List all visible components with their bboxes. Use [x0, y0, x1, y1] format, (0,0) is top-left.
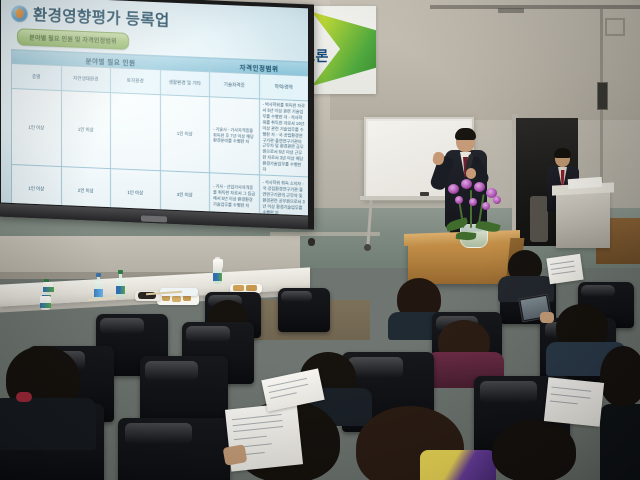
light-switch-panel[interactable] — [597, 82, 608, 110]
handout-text-line — [232, 420, 282, 426]
paper-cup[interactable] — [43, 282, 53, 294]
snack-item — [233, 285, 244, 291]
presenter-hair — [455, 128, 476, 140]
orchid-bloom — [482, 202, 490, 210]
handout-text-line — [232, 414, 282, 420]
seat[interactable] — [118, 418, 230, 480]
side-podium — [556, 190, 610, 248]
orchid-bloom — [461, 179, 472, 189]
screen-pull-handle[interactable] — [141, 215, 167, 222]
audience-member — [600, 346, 640, 406]
orchid-bloom — [448, 184, 459, 194]
col-toji: 토지환경 — [111, 68, 161, 95]
whiteboard-caster-wheel — [364, 244, 371, 251]
handout-text-line — [551, 271, 575, 275]
paper-cup[interactable] — [213, 259, 223, 270]
seat-highlight — [145, 361, 198, 381]
handout-text-line — [550, 401, 578, 405]
col-saenghwal: 생활환경 및 기타 — [160, 70, 210, 97]
handout-text-line — [550, 261, 574, 265]
cell-career: - 석사학위 취득 소지자 - 국·공립환경연구기관·출연연구기관의 근무자 및… — [259, 175, 308, 215]
paper-cup[interactable] — [40, 296, 51, 310]
ceiling-vent — [498, 8, 524, 13]
handout-text-line — [233, 426, 283, 432]
col-jongbyeol: 종별 — [12, 63, 62, 90]
audience-hand — [540, 312, 554, 323]
snack-item — [172, 296, 181, 302]
cell-jongbyeol: 1인 이상 — [12, 88, 62, 166]
audience-scarf — [420, 450, 496, 480]
hair-tie-accessory — [16, 392, 32, 402]
seat[interactable] — [278, 288, 330, 332]
rail-clip-icon — [308, 238, 315, 246]
bottle-label — [213, 273, 222, 281]
cup-band — [40, 303, 51, 308]
audience-shoulders — [0, 398, 96, 450]
presentation-slide: 환경영향평가 등록업 분야별 필요 인원 및 자격인정범위 분야별 필요 인원 … — [1, 0, 308, 215]
orchid-plant — [436, 176, 510, 248]
officer-hair — [554, 148, 571, 158]
marker-pen-icon[interactable] — [420, 192, 429, 196]
bottle-label — [94, 289, 103, 297]
wall-bracket — [605, 18, 625, 36]
cell-qualification: - 기사 - 산업기사자격증을 취득한 자로서 그 등급에서 5년 이상 환경환… — [210, 173, 260, 216]
snack-item — [246, 285, 257, 291]
handout-text-line — [551, 394, 590, 399]
screen-surface: 환경영향평가 등록업 분야별 필요 인원 및 자격인정범위 분야별 필요 인원 … — [1, 0, 308, 215]
bottle-cap — [118, 270, 123, 274]
organization-logo-icon — [11, 4, 28, 22]
slide-section-pill: 분야별 필요 인원 및 자격인정범위 — [17, 28, 129, 50]
seat-highlight — [186, 326, 229, 342]
audience-hand — [223, 444, 248, 466]
col-technical-cert: 기술자격증 — [210, 72, 260, 99]
col-education-career: 학력/경력 — [259, 74, 308, 101]
handout-text-line — [551, 266, 575, 270]
audience-hair — [492, 420, 576, 480]
cell-qualification: - 기술사 - 기사자격증을 취득한 후 7년 이상 해당 환경분야를 수행한 … — [210, 97, 260, 175]
water-bottle[interactable] — [116, 272, 125, 297]
col-jayeon: 자연생태환경 — [61, 66, 111, 93]
seat-highlight — [480, 381, 538, 403]
cell-saenghwal: 1인 이상 — [160, 95, 210, 173]
orchid-bloom — [455, 196, 463, 204]
seat-highlight — [281, 291, 312, 302]
bottle-label — [116, 286, 125, 294]
ceiling-edge — [430, 5, 640, 9]
audience-member — [492, 420, 576, 480]
lecture-hall-photo: 수회 구전략토론 급 환경공학과 환경영향평가 등록업 분야별 필요 인원 및 … — [0, 0, 640, 480]
orchid-bloom — [493, 196, 501, 204]
cell-jayeon: 1인 이상 — [61, 91, 111, 169]
cell-saenghwal: 3인 이상 — [160, 171, 210, 216]
qualification-table: 분야별 필요 인원 자격인정범위 종별 자연생태환경 토지환경 생활환경 및 기… — [11, 49, 308, 215]
slide-title: 환경영향평가 등록업 — [33, 3, 170, 31]
handout-text-line — [270, 392, 297, 399]
printed-handout[interactable] — [546, 254, 583, 284]
handout-text-line — [234, 436, 267, 440]
cell-career: - 박사학위를 취득한 자로서 5년 이상 관련 기술업무를 수행한 자 - 석… — [259, 99, 308, 177]
seat-highlight — [581, 285, 615, 297]
seat-highlight — [100, 318, 143, 334]
printed-handout[interactable] — [544, 377, 604, 427]
bottle-cap — [96, 273, 101, 277]
audience-shoulders — [600, 404, 640, 480]
orchid-stem — [470, 190, 472, 228]
orchid-bloom — [469, 198, 477, 206]
cup-band — [43, 287, 54, 292]
seat-highlight — [125, 423, 192, 444]
handout-text-line — [552, 387, 591, 392]
water-bottle[interactable] — [94, 275, 103, 300]
projection-screen: 환경영향평가 등록업 분야별 필요 인원 및 자격인정범위 분야별 필요 인원 … — [0, 0, 314, 230]
upper-wall-shading — [330, 0, 640, 120]
audience-hair — [600, 346, 640, 406]
cell-toji — [111, 93, 161, 171]
table-row: 1인 이상 1인 이상 1인 이상 - 기술사 - 기사자격증을 취득한 후 7… — [12, 88, 309, 177]
orchid-bloom — [474, 182, 485, 192]
